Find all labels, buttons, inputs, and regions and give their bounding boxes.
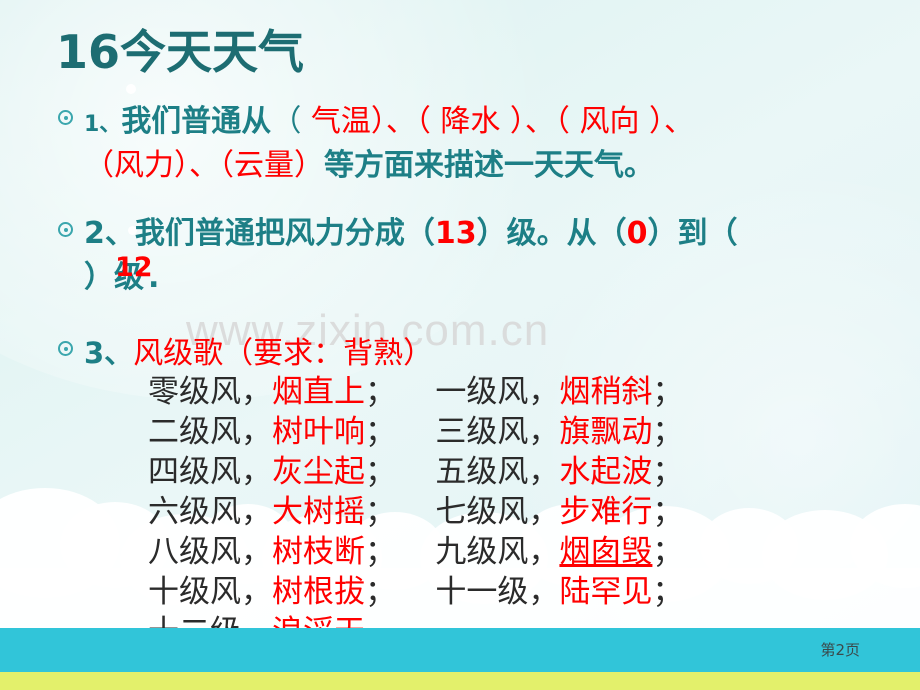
row-right-punc: ； — [652, 574, 683, 610]
page-title: 16今天天气 — [56, 16, 304, 82]
row-right-punc: ； — [652, 454, 683, 490]
bullet-marker-1 — [58, 110, 73, 125]
wind-song-row: 二级风，树叶响； 三级风，旗飘动； — [148, 412, 683, 452]
row-gap — [396, 454, 435, 490]
row-right-answer-underlined: 烟囱毁 — [559, 534, 652, 570]
item-1-line-2: （风力）、（云量）等方面来描述一天天气。 — [84, 140, 654, 184]
item-1-prefix: 我们普通从 — [121, 104, 271, 139]
item-3-heading: 3、风级歌（要求：背熟） — [84, 328, 433, 372]
wind-song-row: 八级风，树枝断； 九级风，烟囱毁； — [148, 532, 683, 572]
row-left-punc: ； — [365, 574, 396, 610]
item-2-text-a: 我们普通把风力分成（ — [135, 216, 435, 251]
item-1-suffix: 等方面来描述一天天气。 — [324, 148, 654, 183]
item-2-answer-0: 0 — [627, 216, 648, 251]
wind-song-row: 零级风，烟直上； 一级风，烟稍斜； — [148, 372, 683, 412]
wind-song-row: 六级风，大树摇； 七级风，步难行； — [148, 492, 683, 532]
item-2-line-1: 2、我们普通把风力分成（13）级。从（0）到（ — [84, 208, 738, 252]
row-right-answer: 烟稍斜 — [559, 374, 652, 410]
item-2-line-2: ）级12. — [84, 252, 159, 296]
row-left-label: 四级风， — [148, 454, 272, 490]
row-right-label: 一级风， — [435, 374, 559, 410]
row-right-label: 三级风， — [435, 414, 559, 450]
row-left-answer: 树叶响 — [272, 414, 365, 450]
item-2-text-b: ）级。从（ — [477, 216, 627, 251]
row-left-punc: ； — [365, 494, 396, 530]
row-gap — [396, 374, 435, 410]
item-2-answer-12: 12 — [115, 252, 153, 283]
row-right-label: 十一级， — [435, 574, 559, 610]
footer-bar-cyan — [0, 628, 920, 672]
row-left-punc: ； — [365, 534, 396, 570]
item-2-paren-close: ） — [84, 260, 114, 295]
row-right-answer: 陆罕见 — [559, 574, 652, 610]
wind-song-row: 四级风，灰尘起； 五级风，水起波； — [148, 452, 683, 492]
item-3-title: 风级歌（要求：背熟） — [133, 336, 433, 371]
row-right-answer: 步难行 — [559, 494, 652, 530]
item-2-text-c: ）到（ — [648, 216, 738, 251]
slide-canvas: www.zixin.com.cn 16今天天气 1、我们普通从（ 气温）、（ 降… — [0, 0, 920, 690]
item-1-paren-open: （ — [271, 104, 301, 139]
row-right-punc: ； — [652, 494, 683, 530]
item-3-index: 3、 — [84, 336, 133, 370]
row-left-label: 零级风， — [148, 374, 272, 410]
row-left-label: 二级风， — [148, 414, 272, 450]
sparkle-dot — [126, 84, 136, 94]
row-left-answer: 灰尘起 — [272, 454, 365, 490]
item-2-index: 2、 — [84, 216, 135, 251]
page-number: 第2页 — [820, 639, 860, 660]
row-right-answer: 水起波 — [559, 454, 652, 490]
bullet-marker-3 — [58, 341, 73, 356]
footer-bar-lime — [0, 672, 920, 690]
row-right-label: 九级风， — [435, 534, 559, 570]
item-1-line-1: 1、我们普通从（ 气温）、（ 降水 ）、（ 风向 ）、 — [84, 96, 694, 140]
wind-song-row: 十级风，树根拔； 十一级，陆罕见； — [148, 572, 683, 612]
row-right-label: 五级风， — [435, 454, 559, 490]
row-left-label: 八级风， — [148, 534, 272, 570]
row-gap — [396, 494, 435, 530]
item-1-blanks-2: （风力）、（云量） — [84, 148, 324, 183]
row-right-punc: ； — [652, 534, 683, 570]
row-left-punc: ； — [365, 414, 396, 450]
row-left-answer: 大树摇 — [272, 494, 365, 530]
item-1-index: 1、 — [84, 112, 121, 137]
wind-song-table: 零级风，烟直上； 一级风，烟稍斜； 二级风，树叶响； 三级风，旗飘动； 四级风，… — [148, 372, 683, 652]
row-left-answer: 烟直上 — [272, 374, 365, 410]
row-left-punc: ； — [365, 374, 396, 410]
row-left-answer: 树枝断 — [272, 534, 365, 570]
row-right-label: 七级风， — [435, 494, 559, 530]
row-left-punc: ； — [365, 454, 396, 490]
row-gap — [396, 574, 435, 610]
row-right-punc: ； — [652, 374, 683, 410]
row-left-label: 六级风， — [148, 494, 272, 530]
row-right-punc: ； — [652, 414, 683, 450]
row-left-answer: 树根拔 — [272, 574, 365, 610]
row-left-label: 十级风， — [148, 574, 272, 610]
row-gap — [396, 414, 435, 450]
item-2-answer-13: 13 — [435, 216, 477, 251]
row-right-answer: 旗飘动 — [559, 414, 652, 450]
bullet-marker-2 — [58, 222, 73, 237]
item-1-blanks: 气温）、（ 降水 ）、（ 风向 ）、 — [301, 104, 694, 139]
item-2-overlap-group: 级12 — [114, 252, 148, 296]
row-gap — [396, 534, 435, 570]
